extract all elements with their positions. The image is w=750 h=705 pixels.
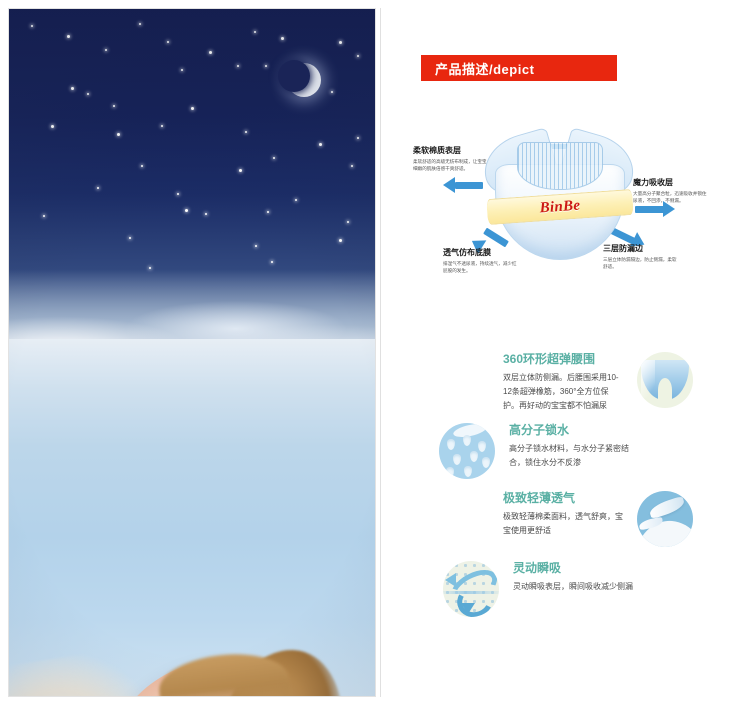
feature-text: 灵动瞬吸 灵动瞬吸表层，瞬间吸收减少侧漏 [513,561,713,594]
content-panel: 产品描述/depict BinBe [381,0,750,705]
diagram-label-desc: 柔软舒适的高级无纺布制成，让宝宝细嫩的肌肤倍感干爽舒适。 [413,158,491,172]
feature-text: 极致轻薄透气 极致轻薄棉柔面料，透气舒爽，宝宝使用更舒适 [503,491,623,538]
baby-night-photo [8,8,376,697]
feature-text: 高分子锁水 高分子锁水材料，与水分子紧密结合，锁住水分不反渗 [509,423,629,470]
diagram-label-title: 透气仿布底膜 [443,248,521,258]
section-heading-banner: 产品描述/depict [421,55,617,81]
page-title: 产品描述/depict [435,59,534,78]
diaper-absorbent-core [517,142,603,190]
feature-list: 360环形超弹腰围 双层立体防侧漏。后腰围采用10-12条超弹橡筋，360°全方… [381,352,750,617]
feature-item-instant-absorption: 灵动瞬吸 灵动瞬吸表层，瞬间吸收减少侧漏 [443,561,750,617]
diagram-label-desc: 排湿气不透尿液，持续透气，减少红屁股的发生。 [443,260,521,274]
diaper-illustration: BinBe [483,136,635,260]
feature-desc: 极致轻薄棉柔面料，透气舒爽，宝宝使用更舒适 [503,510,623,538]
bedding-background [9,339,375,697]
feather-cloud-icon [637,491,693,547]
feature-text: 360环形超弹腰围 双层立体防侧漏。后腰围采用10-12条超弹橡筋，360°全方… [503,352,623,413]
feature-desc: 灵动瞬吸表层，瞬间吸收减少侧漏 [513,580,713,594]
feature-item-ultra-thin-breathable: 极致轻薄透气 极致轻薄棉柔面料，透气舒爽，宝宝使用更舒适 [503,491,750,547]
diagram-label-magic-absorbent-layer: 魔力吸收层 大量高分子聚合粒，迅速吸收并锁住尿液，不回渗，不侧漏。 [633,178,711,204]
brand-logo: BinBe [539,197,581,217]
diagram-label-desc: 大量高分子聚合粒，迅速吸收并锁住尿液，不回渗，不侧漏。 [633,190,711,204]
swirl-arrows-icon [443,561,499,617]
feature-item-elastic-waistband: 360环形超弹腰围 双层立体防侧漏。后腰围采用10-12条超弹橡筋，360°全方… [503,352,750,413]
diagram-label-soft-cotton-surface: 柔软棉质表层 柔软舒适的高级无纺布制成，让宝宝细嫩的肌肤倍感干爽舒适。 [413,146,491,172]
diaper-pant-icon [637,352,693,408]
diagram-label-title: 魔力吸收层 [633,178,711,188]
feature-item-polymer-water-lock: 高分子锁水 高分子锁水材料，与水分子紧密结合，锁住水分不反渗 [439,423,750,479]
diagram-label-title: 三层防漏边 [603,244,681,254]
diagram-label-title: 柔软棉质表层 [413,146,491,156]
arrow-shaft-right [635,206,665,213]
diagram-label-desc: 三层立体防漏隔边，防止侧漏，柔软舒适。 [603,256,681,270]
product-description-page: 产品描述/depict BinBe [0,0,750,705]
water-droplets-icon [439,423,495,479]
diagram-label-triple-leak-guard: 三层防漏边 三层立体防漏隔边，防止侧漏，柔软舒适。 [603,244,681,270]
feature-title: 极致轻薄透气 [503,491,623,506]
feature-title: 灵动瞬吸 [513,561,713,576]
feature-desc: 双层立体防侧漏。后腰围采用10-12条超弹橡筋，360°全方位保护。再好动的宝宝… [503,371,623,413]
arrow-head-left [443,177,455,193]
arrow-shaft-left [455,182,483,189]
crescent-moon-icon [287,63,321,97]
feature-title: 高分子锁水 [509,423,629,438]
diaper-structure-diagram: BinBe 柔软棉质表层 柔软舒适的高级无纺布制成，让宝宝细嫩的肌肤倍感干爽舒适… [395,130,750,290]
feature-desc: 高分子锁水材料，与水分子紧密结合，锁住水分不反渗 [509,442,629,470]
diagram-label-breathable-backsheet: 透气仿布底膜 排湿气不透尿液，持续透气，减少红屁股的发生。 [443,248,521,274]
feature-title: 360环形超弹腰围 [503,352,623,367]
